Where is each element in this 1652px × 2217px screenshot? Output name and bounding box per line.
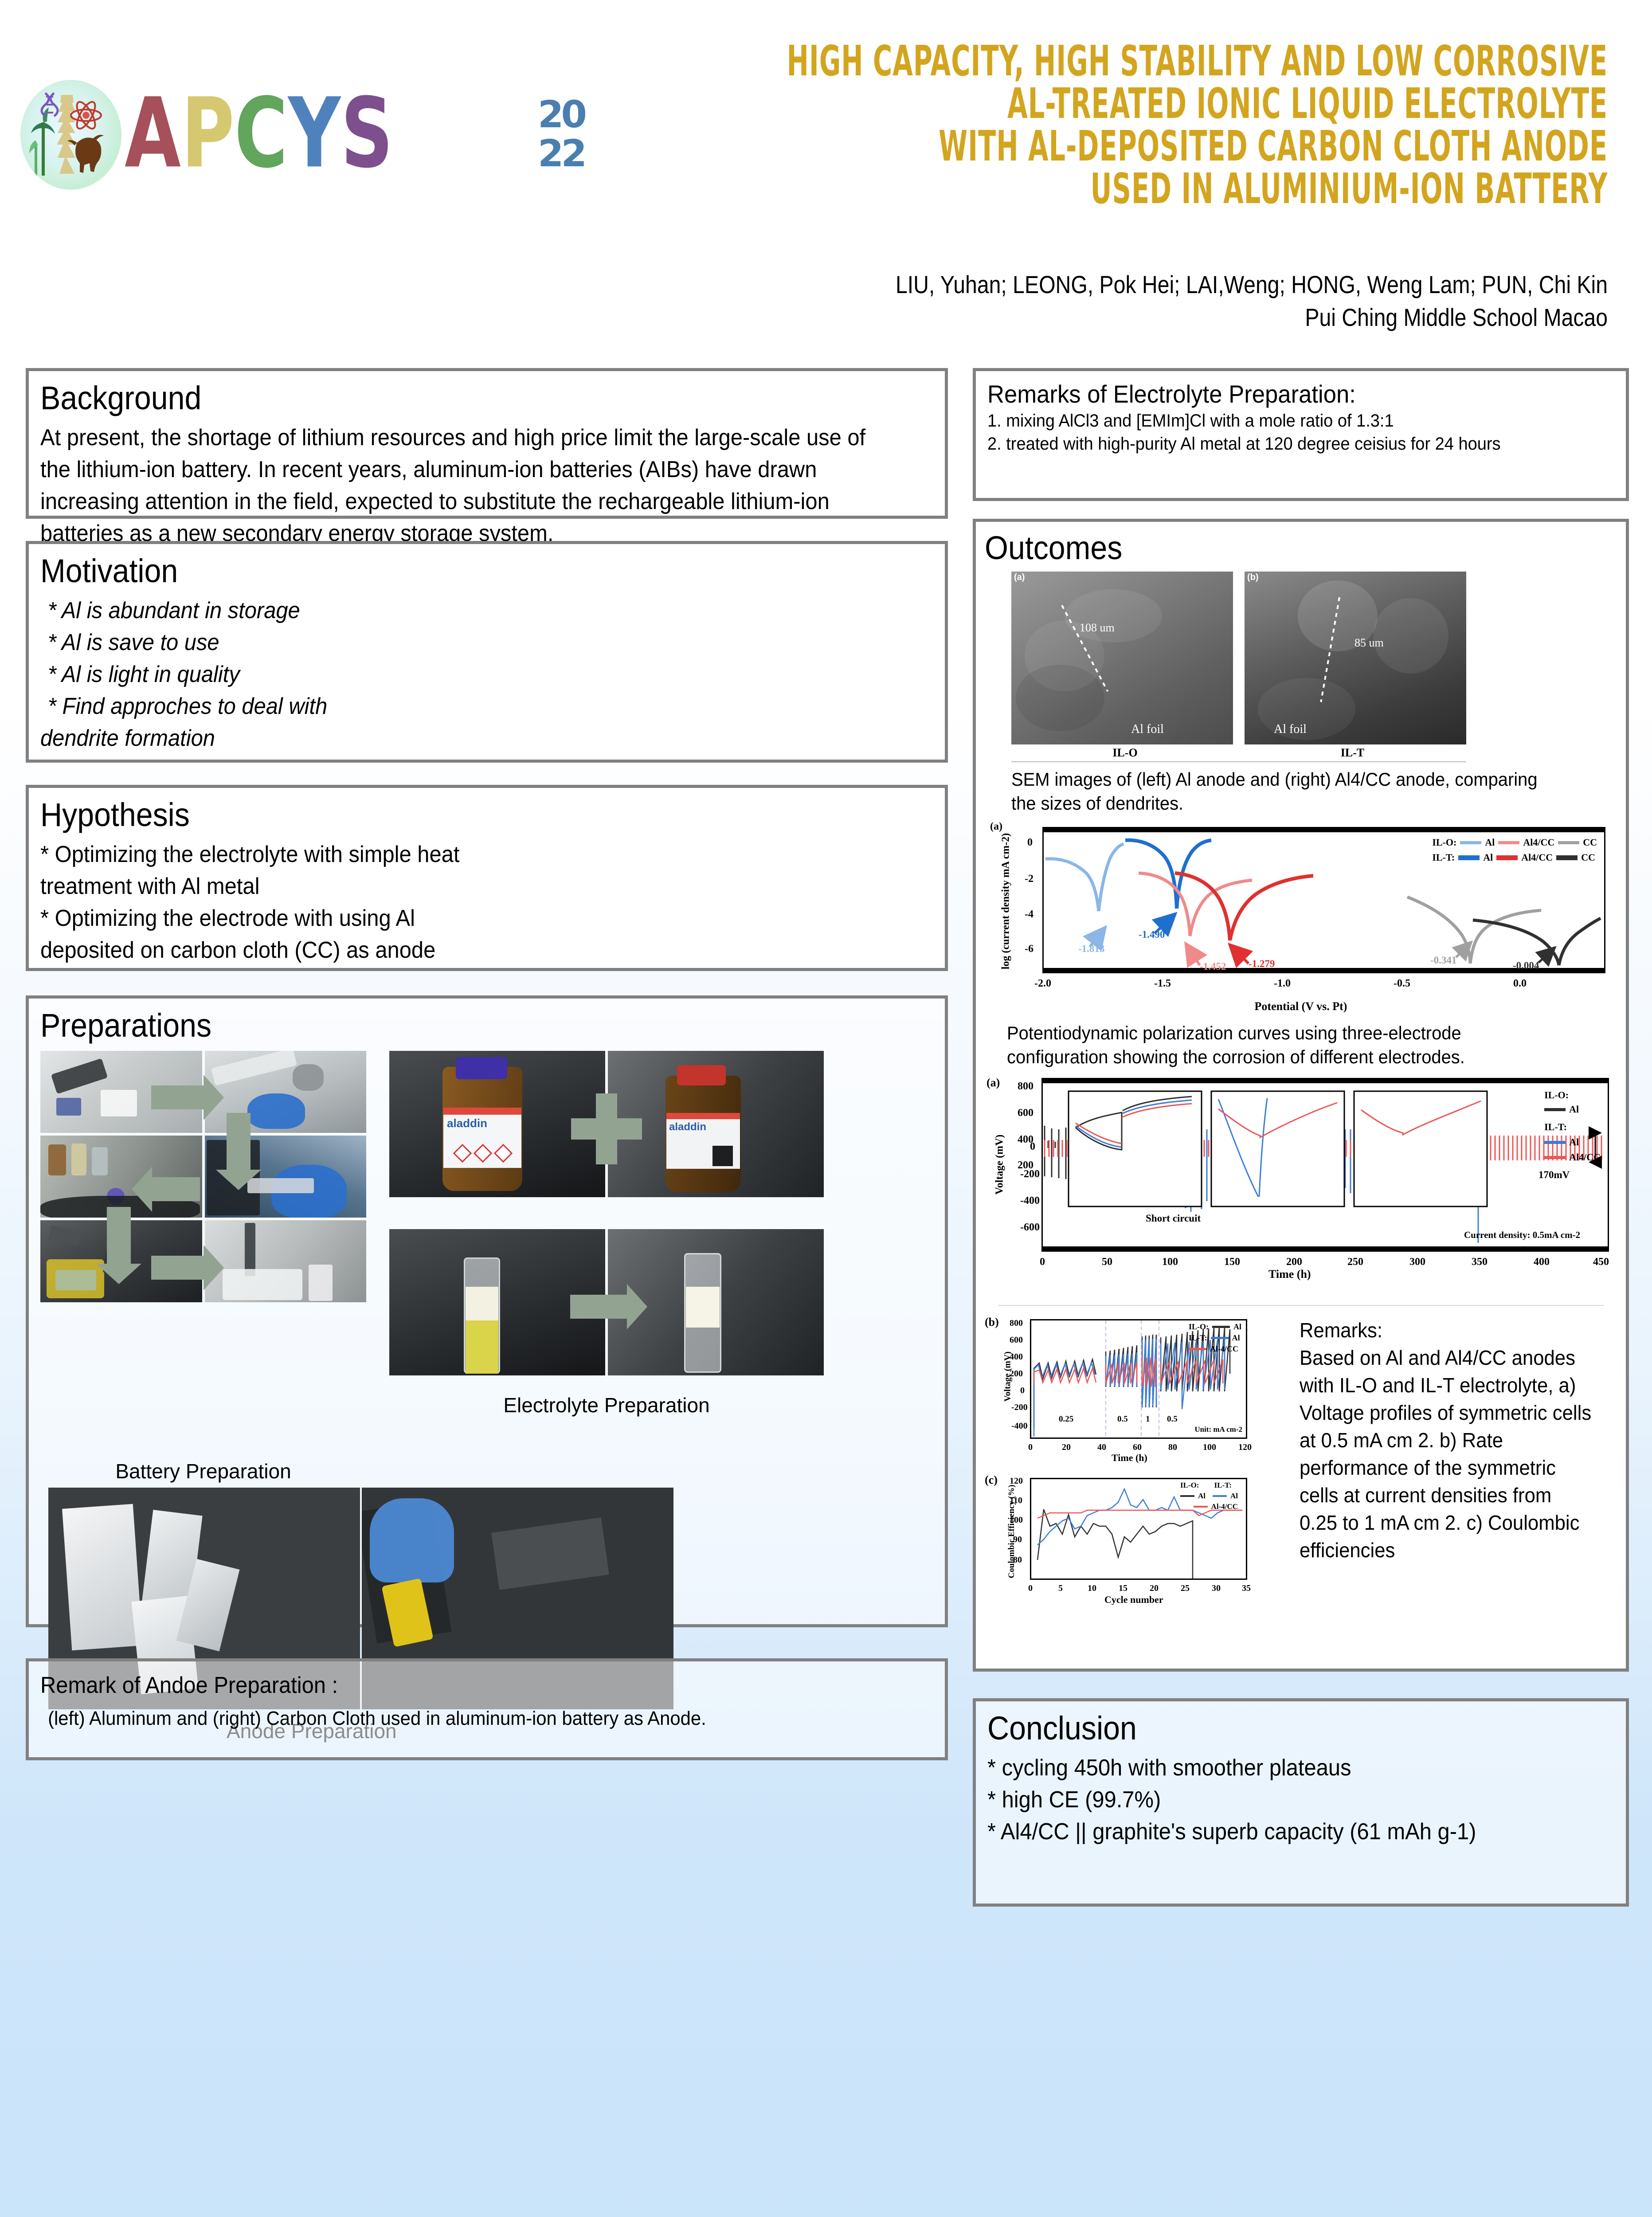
panel-electrolyte-remark: Remarks of Electrolyte Preparation: 1. m… bbox=[973, 368, 1629, 501]
rate-legend-ilt-al4cc: Al-4/CC bbox=[1189, 1344, 1241, 1354]
ce-label-ilo-al: Al bbox=[1198, 1492, 1206, 1500]
ce-label-ilt-al: Al bbox=[1230, 1492, 1238, 1500]
ce-plot-area: IL-O: IL-T: Al Al bbox=[1030, 1478, 1247, 1580]
rate-legend-group-ilo: IL-O: bbox=[1189, 1322, 1209, 1332]
voltage-ytick-0: 800 bbox=[1018, 1081, 1033, 1093]
ce-legend-groups: IL-O: IL-T: bbox=[1180, 1481, 1238, 1490]
legend-key-ilt-al bbox=[1458, 855, 1480, 860]
anode-remark-heading: Remark of Andoe Preparation : bbox=[40, 1669, 880, 1701]
sem-panel-b-tag: (b) bbox=[1247, 572, 1259, 583]
rate-label-1a: 1 bbox=[1146, 1414, 1150, 1424]
voltage-ytick-7: -600 bbox=[1020, 1222, 1040, 1234]
left-column: Background At present, the shortage of l… bbox=[26, 368, 948, 1778]
annotation-ilo-al: -1.813 bbox=[1078, 943, 1104, 955]
panel-outcomes: Outcomes (a) 108 um Al foil (b) 85 um Al… bbox=[973, 519, 1629, 1672]
photo-battery-6 bbox=[205, 1220, 367, 1302]
ce-legend-ilt-al: Al bbox=[1213, 1492, 1238, 1500]
legend-key-ilo-al4cc bbox=[1498, 841, 1519, 844]
legend-label-ilo-cc: CC bbox=[1583, 837, 1597, 848]
page-title: HIGH CAPACITY, HIGH STABILITY AND LOW CO… bbox=[455, 40, 1608, 210]
rate-ce-charts: (b) Voltage (mV) bbox=[985, 1315, 1286, 1610]
panel-hypothesis: Hypothesis * Optimizing the electrolyte … bbox=[26, 785, 948, 971]
ce-legend-ilo-al: Al bbox=[1180, 1492, 1206, 1500]
rate-label-ilo-al: Al bbox=[1233, 1322, 1241, 1332]
rate-label-ilt-al4cc: Al-4/CC bbox=[1210, 1344, 1238, 1354]
polarization-xtick-3: -0.5 bbox=[1394, 978, 1410, 990]
anode-remark-text: (left) Aluminum and (right) Carbon Cloth… bbox=[40, 1706, 889, 1731]
polarization-ytick-0: 0 bbox=[1027, 837, 1033, 849]
voltage-profile-svg bbox=[1043, 1083, 1608, 1246]
polarization-legend-group-1: IL-O: Al Al4/CC CC bbox=[1432, 837, 1597, 848]
plus-symbol-icon bbox=[571, 1093, 642, 1164]
hypothesis-line-3: * Optimizing the electrode with using Al bbox=[40, 902, 880, 934]
rate-panel-tag: (b) bbox=[985, 1316, 999, 1329]
voltage-legend-ilt: IL-T: bbox=[1544, 1121, 1601, 1133]
motivation-heading: Motivation bbox=[40, 552, 862, 590]
voltage-legend-ilt-al: Al bbox=[1544, 1136, 1601, 1148]
ce-ytick-3: 90 bbox=[1013, 1535, 1022, 1545]
ce-xtick-4: 20 bbox=[1150, 1583, 1159, 1594]
outcomes-side-remarks: Remarks: Based on Al and Al4/CC anodes w… bbox=[1300, 1315, 1610, 1610]
panel-preparations: Preparations bbox=[26, 995, 948, 1627]
sem-axis-labels: IL-O IL-T bbox=[1011, 746, 1466, 760]
polarization-xtick-0: -2.0 bbox=[1034, 978, 1051, 990]
chart-rate-performance: (b) Voltage (mV) bbox=[985, 1315, 1286, 1461]
motivation-bullet-5: dendrite formation bbox=[40, 722, 880, 754]
photo-battery-3 bbox=[40, 1136, 202, 1218]
ce-panel-tag: (c) bbox=[985, 1473, 998, 1487]
polarization-xtick-2: -1.0 bbox=[1274, 978, 1291, 990]
voltage-ytick-5: -200 bbox=[1020, 1168, 1040, 1180]
flow-arrow-down-1 bbox=[227, 1113, 251, 1171]
rate-label-025a: 0.25 bbox=[1059, 1414, 1073, 1424]
chart-polarization: (a) log (current density mA cm-2) bbox=[985, 820, 1617, 997]
annotation-ilt-cc: -0.004 bbox=[1513, 960, 1539, 971]
bottle-brand-label-2: aladdin bbox=[669, 1121, 706, 1133]
voltage-legend-ilo-al: Al bbox=[1544, 1104, 1601, 1115]
voltage-panel-tag: (a) bbox=[987, 1076, 1000, 1089]
ce-key-ilt-al4cc bbox=[1194, 1506, 1208, 1508]
side-remarks-text: Based on Al and Al4/CC anodes with IL-O … bbox=[1300, 1344, 1594, 1564]
sem-divider bbox=[1011, 761, 1466, 762]
panel-background: Background At present, the shortage of l… bbox=[26, 368, 948, 519]
ce-ytick-2: 100 bbox=[1010, 1515, 1023, 1525]
hypothesis-heading: Hypothesis bbox=[40, 796, 862, 834]
motivation-bullet-3: * Al is light in quality bbox=[40, 658, 880, 690]
background-text: At present, the shortage of lithium reso… bbox=[40, 422, 882, 549]
polarization-ylabel: log (current density mA cm-2) bbox=[1000, 830, 1012, 972]
polarization-plot-area: IL-O: Al Al4/CC CC IL-T: Al Al4/CC bbox=[1042, 827, 1605, 973]
voltage-key-ilt-al4cc bbox=[1544, 1156, 1566, 1159]
rate-xtick-5: 100 bbox=[1203, 1442, 1216, 1453]
rate-label-05b: 0.5 bbox=[1167, 1414, 1178, 1424]
rate-ytick-2: 400 bbox=[1010, 1352, 1023, 1362]
legend-key-ilo-cc bbox=[1558, 841, 1579, 844]
rate-xtick-1: 20 bbox=[1062, 1442, 1071, 1453]
conclusion-heading: Conclusion bbox=[987, 1709, 1564, 1747]
ce-legend-row-al: Al Al bbox=[1180, 1492, 1238, 1500]
voltage-xtick-4: 200 bbox=[1286, 1256, 1302, 1268]
rate-label-05a: 0.5 bbox=[1117, 1414, 1128, 1424]
panel-anode-remark: Remark of Andoe Preparation : (left) Alu… bbox=[26, 1658, 948, 1760]
author-block: LIU, Yuhan; LEONG, Pok Hei; LAI,Weng; HO… bbox=[455, 268, 1608, 334]
sem-a-substrate-label: Al foil bbox=[1131, 722, 1164, 736]
outcomes-divider bbox=[998, 1305, 1604, 1306]
rate-xtick-0: 0 bbox=[1028, 1442, 1033, 1453]
rate-plot-area: IL-O: Al IL-T: Al Al-4/CC bbox=[1030, 1319, 1247, 1439]
polarization-caption: Potentiodynamic polarization curves usin… bbox=[1007, 1021, 1554, 1069]
voltage-legend-group-ilo: IL-O: bbox=[1544, 1089, 1569, 1101]
voltage-xtick-6: 300 bbox=[1409, 1256, 1425, 1268]
ce-ylabel: Coulombic Efficiency (%) bbox=[1007, 1476, 1017, 1587]
panel-motivation: Motivation * Al is abundant in storage *… bbox=[26, 541, 948, 763]
flow-arrow-left-1 bbox=[151, 1177, 200, 1201]
voltage-label-ilo-al: Al bbox=[1569, 1104, 1579, 1115]
legend-label-ilt-cc: CC bbox=[1581, 852, 1595, 863]
rate-xtick-4: 80 bbox=[1168, 1442, 1177, 1453]
sem-a-axis-label: IL-O bbox=[1011, 746, 1239, 760]
rate-legend-group-ilt: IL-T: bbox=[1189, 1333, 1207, 1343]
ce-xtick-3: 15 bbox=[1119, 1583, 1127, 1594]
ce-ytick-1: 110 bbox=[1010, 1496, 1022, 1506]
voltage-xtick-7: 350 bbox=[1472, 1256, 1488, 1268]
polarization-ytick-3: -6 bbox=[1025, 943, 1033, 955]
rate-label-ilt-al: Al bbox=[1232, 1333, 1240, 1343]
rate-key-ilt-al bbox=[1211, 1337, 1229, 1339]
voltage-plot-area: IL-O: Al IL-T: Al Al4/CC bbox=[1041, 1078, 1609, 1252]
voltage-legend-ilo: IL-O: bbox=[1544, 1089, 1601, 1101]
ce-label-ilt-al4cc: Al-4/CC bbox=[1211, 1502, 1238, 1511]
voltage-legend-ilt-al4cc: Al4/CC bbox=[1544, 1152, 1601, 1163]
chart-coulombic-efficiency: (c) Coulombic Efficiency (%) bbox=[985, 1473, 1286, 1610]
ce-key-ilo-al bbox=[1180, 1495, 1194, 1497]
legend-label-ilt-al4cc: Al4/CC bbox=[1521, 852, 1553, 863]
title-line-4: USED IN ALUMINIUM-ION BATTERY bbox=[685, 162, 1608, 216]
voltage-label-ilt-al: Al bbox=[1569, 1136, 1579, 1148]
legend-key-ilt-cc bbox=[1556, 855, 1578, 860]
ce-xtick-1: 5 bbox=[1058, 1583, 1063, 1594]
rate-xtick-3: 60 bbox=[1133, 1442, 1142, 1453]
legend-key-ilt-al4cc bbox=[1496, 855, 1518, 860]
voltage-xtick-5: 250 bbox=[1347, 1256, 1363, 1268]
sem-caption: SEM images of (left) Al anode and (right… bbox=[1011, 768, 1550, 815]
flow-arrow-right-2 bbox=[151, 1256, 204, 1280]
electrolyte-remark-heading: Remarks of Electrolyte Preparation: bbox=[987, 379, 1577, 409]
rate-key-ilo-al bbox=[1212, 1326, 1230, 1328]
motivation-bullet-2: * Al is save to use bbox=[40, 627, 880, 658]
conclusion-line-1: * cycling 450h with smoother plateaus bbox=[987, 1752, 1577, 1784]
voltage-xtick-8: 400 bbox=[1534, 1256, 1550, 1268]
ce-legend-group-ilo: IL-O: bbox=[1180, 1481, 1199, 1490]
blue-glove bbox=[370, 1498, 454, 1582]
rate-unit-note: Unit: mA cm-2 bbox=[1194, 1425, 1242, 1434]
sem-panel-a-tag: (a) bbox=[1014, 572, 1025, 583]
ce-legend-ilt-al4cc: Al-4/CC bbox=[1194, 1502, 1238, 1511]
rate-ytick-3: 200 bbox=[1010, 1369, 1023, 1379]
rate-xlabel: Time (h) bbox=[1112, 1452, 1147, 1464]
author-names: LIU, Yuhan; LEONG, Pok Hei; LAI,Weng; HO… bbox=[616, 268, 1608, 301]
rate-ytick-4: 0 bbox=[1020, 1386, 1025, 1396]
voltage-label-ilt-al4cc: Al4/CC bbox=[1569, 1152, 1601, 1163]
polarization-ytick-1: -2 bbox=[1025, 873, 1033, 885]
rate-ytick-5: -200 bbox=[1011, 1402, 1028, 1413]
conclusion-line-2: * high CE (99.7%) bbox=[987, 1784, 1577, 1816]
legend-label-ilo-al: Al bbox=[1485, 837, 1495, 848]
legend-label-ilt-al: Al bbox=[1483, 852, 1493, 863]
sem-image-b: (b) 85 um Al foil bbox=[1245, 572, 1466, 744]
electrolyte-photo-grid-bottom bbox=[389, 1229, 824, 1380]
electrolyte-remark-item-2: 2. treated with high-purity Al metal at … bbox=[987, 432, 1583, 455]
voltage-xtick-9: 450 bbox=[1593, 1256, 1609, 1268]
polarization-xtick-1: -1.5 bbox=[1154, 978, 1171, 990]
electrolyte-preparation-caption: Electrolyte Preparation bbox=[389, 1393, 824, 1417]
legend-key-ilo-al bbox=[1460, 841, 1481, 844]
battery-preparation-caption: Battery Preparation bbox=[40, 1459, 366, 1483]
hypothesis-line-1: * Optimizing the electrolyte with simple… bbox=[40, 838, 880, 870]
ce-ytick-4: 80 bbox=[1013, 1555, 1022, 1565]
ce-xtick-5: 25 bbox=[1181, 1583, 1190, 1594]
logo-wordmark: APCYS bbox=[122, 91, 391, 176]
voltage-ylabel: Voltage (mV) bbox=[994, 1107, 1006, 1222]
ce-xtick-6: 30 bbox=[1212, 1583, 1221, 1594]
rate-legend-ilo: IL-O: Al bbox=[1189, 1322, 1241, 1332]
ce-key-ilt-al bbox=[1213, 1495, 1227, 1497]
polarization-xtick-4: 0.0 bbox=[1513, 978, 1527, 990]
panel-conclusion: Conclusion * cycling 450h with smoother … bbox=[973, 1698, 1629, 1907]
voltage-xtick-0: 0 bbox=[1040, 1256, 1045, 1268]
rate-xtick-6: 120 bbox=[1238, 1442, 1252, 1453]
flow-arrow-right-1 bbox=[151, 1085, 204, 1109]
voltage-xtick-1: 50 bbox=[1102, 1256, 1112, 1268]
logo-emblem-icon bbox=[20, 80, 121, 190]
side-remarks-heading: Remarks: bbox=[1300, 1316, 1594, 1344]
preparation-figures: Battery Preparation aladdin bbox=[40, 1051, 933, 1483]
ce-xlabel: Cycle number bbox=[1104, 1594, 1163, 1606]
rate-and-ce-row: (b) Voltage (mV) bbox=[985, 1315, 1617, 1610]
rate-key-ilt-al4cc bbox=[1189, 1348, 1206, 1350]
voltage-key-ilo-al bbox=[1544, 1108, 1566, 1111]
battery-photo-grid bbox=[40, 1051, 366, 1300]
voltage-xtick-3: 150 bbox=[1224, 1256, 1240, 1268]
hypothesis-line-2: treatment with Al metal bbox=[40, 870, 880, 902]
author-affiliation: Pui Ching Middle School Macao bbox=[616, 301, 1608, 334]
electrolyte-preparation-figure: aladdin aladdin bbox=[389, 1051, 824, 1483]
battery-preparation-figure: Battery Preparation bbox=[40, 1051, 366, 1483]
annotation-ilo-cc: -0.341 bbox=[1430, 955, 1456, 966]
rate-ytick-1: 600 bbox=[1010, 1335, 1023, 1345]
voltage-legend-group-ilt: IL-T: bbox=[1544, 1121, 1567, 1132]
bottle-brand-label-1: aladdin bbox=[447, 1116, 487, 1130]
sem-figure: (a) 108 um Al foil (b) 85 um Al foil bbox=[1011, 572, 1617, 744]
voltage-legend: IL-O: Al IL-T: Al Al4/CC bbox=[1544, 1089, 1601, 1163]
legend-group-label-ilt: IL-T: bbox=[1432, 852, 1455, 863]
voltage-xtick-2: 100 bbox=[1162, 1256, 1178, 1268]
voltage-annotation-short-circuit: Short circuit bbox=[1146, 1213, 1201, 1224]
voltage-ytick-4: 0 bbox=[1030, 1141, 1035, 1153]
ce-legend-group-ilt: IL-T: bbox=[1214, 1481, 1232, 1490]
electrolyte-photo-grid-top: aladdin aladdin bbox=[389, 1051, 824, 1206]
hypothesis-line-4: deposited on carbon cloth (CC) as anode bbox=[40, 934, 880, 966]
annotation-ilo-al4cc: -1.452 bbox=[1200, 961, 1226, 972]
voltage-key-ilt-al bbox=[1544, 1141, 1566, 1144]
annotation-ilt-al4cc: -1.279 bbox=[1249, 958, 1275, 970]
chart-voltage-profile: (a) Voltage (mV) bbox=[985, 1074, 1617, 1278]
polarization-legend-group-2: IL-T: Al Al4/CC CC bbox=[1432, 852, 1597, 863]
rate-xtick-2: 40 bbox=[1097, 1442, 1106, 1453]
legend-group-label-ilo: IL-O: bbox=[1432, 837, 1456, 848]
voltage-annotation-170mv: 170mV bbox=[1538, 1169, 1570, 1181]
flow-arrow-right-3 bbox=[570, 1295, 628, 1319]
rate-legend: IL-O: Al IL-T: Al Al-4/CC bbox=[1189, 1322, 1241, 1354]
ce-xtick-7: 35 bbox=[1242, 1583, 1251, 1594]
legend-label-ilo-al4cc: Al4/CC bbox=[1523, 837, 1554, 848]
voltage-annotation-current-density: Current density: 0.5mA cm-2 bbox=[1464, 1230, 1580, 1241]
ce-xtick-2: 10 bbox=[1088, 1583, 1096, 1594]
flow-arrow-down-2 bbox=[107, 1207, 131, 1265]
preparations-heading: Preparations bbox=[40, 1007, 862, 1045]
right-column: Remarks of Electrolyte Preparation: 1. m… bbox=[973, 368, 1629, 1924]
outcomes-heading: Outcomes bbox=[985, 529, 1566, 567]
ce-ytick-0: 120 bbox=[1010, 1476, 1023, 1486]
voltage-ytick-6: -400 bbox=[1020, 1195, 1040, 1207]
voltage-xlabel: Time (h) bbox=[1268, 1268, 1311, 1281]
conclusion-line-3: * Al4/CC || graphite's superb capacity (… bbox=[987, 1816, 1577, 1848]
motivation-bullet-4: * Find approches to deal with bbox=[40, 690, 880, 722]
sem-b-axis-label: IL-T bbox=[1239, 746, 1466, 760]
ce-xtick-0: 0 bbox=[1028, 1583, 1033, 1594]
logo-emblem-svg bbox=[20, 80, 121, 190]
rate-ytick-0: 800 bbox=[1010, 1318, 1023, 1328]
polarization-legend: IL-O: Al Al4/CC CC IL-T: Al Al4/CC bbox=[1432, 837, 1597, 863]
sem-image-a: (a) 108 um Al foil bbox=[1011, 572, 1233, 744]
ce-legend: IL-O: IL-T: Al Al bbox=[1180, 1481, 1238, 1511]
ce-legend-row-al4cc: Al-4/CC bbox=[1180, 1502, 1238, 1511]
rate-legend-ilt: IL-T: Al bbox=[1189, 1333, 1241, 1343]
poster-header: APCYS 20 22 HIGH CAPACITY, HIGH STABILIT… bbox=[0, 0, 1652, 355]
electrolyte-remark-item-1: 1. mixing AlCl3 and [EMIm]Cl with a mole… bbox=[987, 409, 1583, 432]
annotation-ilt-al: -1.490 bbox=[1139, 929, 1165, 940]
polarization-xlabel: Potential (V vs. Pt) bbox=[985, 1000, 1617, 1013]
voltage-ytick-1: 600 bbox=[1018, 1107, 1033, 1119]
rate-ytick-6: -400 bbox=[1011, 1421, 1028, 1431]
motivation-bullet-1: * Al is abundant in storage bbox=[40, 595, 880, 627]
polarization-ytick-2: -4 bbox=[1025, 909, 1033, 920]
background-heading: Background bbox=[40, 379, 862, 417]
